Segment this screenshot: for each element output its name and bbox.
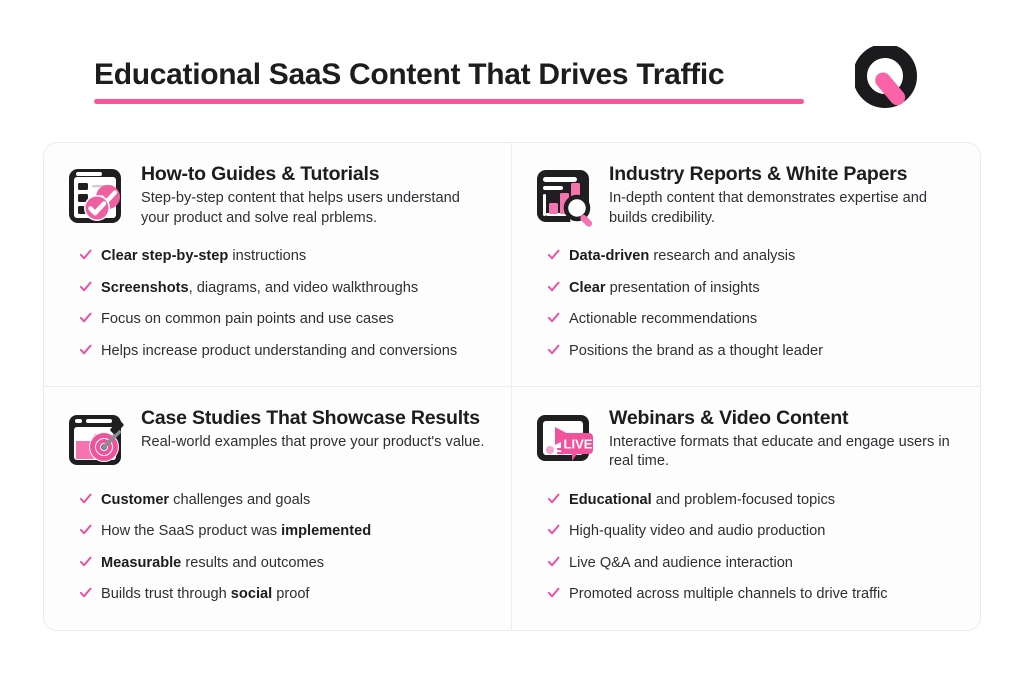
list-item: Helps increase product understanding and… <box>79 342 491 361</box>
infographic-root: Educational SaaS Content That Drives Tra… <box>0 0 1024 683</box>
check-icon <box>547 280 560 293</box>
bullet-text: Measurable results and outcomes <box>101 555 324 573</box>
bullet-text: Actionable recommendations <box>569 311 757 329</box>
check-icon <box>79 555 92 568</box>
list-item: Clear step-by-step instructions <box>79 247 491 266</box>
check-icon <box>547 311 560 324</box>
bullet-list: Educational and problem-focused topics H… <box>532 491 960 604</box>
bullet-list: Data-driven research and analysis Clear … <box>532 247 960 360</box>
header: Educational SaaS Content That Drives Tra… <box>0 0 1024 131</box>
card-header: LIVE Webinars & Video Content Interactiv… <box>532 405 960 473</box>
page-title: Educational SaaS Content That Drives Tra… <box>94 58 804 91</box>
list-item: Customer challenges and goals <box>79 491 491 510</box>
card-subtitle: In-depth content that demonstrates exper… <box>609 189 960 228</box>
check-icon <box>547 555 560 568</box>
card-subtitle: Real-world examples that prove your prod… <box>141 433 491 452</box>
card-subtitle: Interactive formats that educate and eng… <box>609 433 960 472</box>
bullet-list: Customer challenges and goals How the Sa… <box>64 491 491 604</box>
card-header: How-to Guides & Tutorials Step-by-step c… <box>64 161 491 229</box>
report-chart-magnifier-icon <box>532 163 598 229</box>
video-live-broadcast-icon: LIVE <box>532 407 598 473</box>
list-item: Actionable recommendations <box>547 310 960 329</box>
card-case-studies: Case Studies That Showcase Results Real-… <box>44 387 512 631</box>
bullet-text: Live Q&A and audience interaction <box>569 555 793 573</box>
bullet-text: Promoted across multiple channels to dri… <box>569 586 888 604</box>
check-icon <box>79 523 92 536</box>
card-title: Case Studies That Showcase Results <box>141 407 491 429</box>
bullet-text: Helps increase product understanding and… <box>101 343 457 361</box>
list-item: High-quality video and audio production <box>547 522 960 541</box>
q-logo-icon <box>855 46 921 112</box>
list-item: Positions the brand as a thought leader <box>547 342 960 361</box>
card-title: Industry Reports & White Papers <box>609 163 960 185</box>
card-how-to-guides: How-to Guides & Tutorials Step-by-step c… <box>44 143 512 387</box>
card-title: Webinars & Video Content <box>609 407 960 429</box>
check-icon <box>79 492 92 505</box>
list-item: Clear presentation of insights <box>547 279 960 298</box>
title-underline <box>94 99 804 104</box>
bullet-text: Data-driven research and analysis <box>569 248 795 266</box>
card-header: Case Studies That Showcase Results Real-… <box>64 405 491 473</box>
live-badge-label: LIVE <box>564 436 593 451</box>
bullet-text: Builds trust through social proof <box>101 586 310 604</box>
card-header-text: Case Studies That Showcase Results Real-… <box>141 405 491 453</box>
bullet-text: Focus on common pain points and use case… <box>101 311 394 329</box>
card-industry-reports: Industry Reports & White Papers In-depth… <box>512 143 980 387</box>
card-title: How-to Guides & Tutorials <box>141 163 491 185</box>
check-icon <box>547 523 560 536</box>
check-icon <box>79 280 92 293</box>
card-header-text: How-to Guides & Tutorials Step-by-step c… <box>141 161 491 228</box>
bullet-list: Clear step-by-step instructions Screensh… <box>64 247 491 360</box>
cards-panel: How-to Guides & Tutorials Step-by-step c… <box>43 142 981 631</box>
bullet-text: Clear presentation of insights <box>569 280 760 298</box>
card-header-text: Industry Reports & White Papers In-depth… <box>609 161 960 228</box>
list-item: Builds trust through social proof <box>79 585 491 604</box>
list-item: Promoted across multiple channels to dri… <box>547 585 960 604</box>
title-block: Educational SaaS Content That Drives Tra… <box>94 58 804 104</box>
bullet-text: Screenshots, diagrams, and video walkthr… <box>101 280 418 298</box>
check-icon <box>547 586 560 599</box>
check-icon <box>79 586 92 599</box>
checklist-document-icon <box>64 163 130 229</box>
card-webinars-video: LIVE Webinars & Video Content Interactiv… <box>512 387 980 631</box>
check-icon <box>547 248 560 261</box>
case-study-target-pen-icon <box>64 407 130 473</box>
list-item: Data-driven research and analysis <box>547 247 960 266</box>
card-header: Industry Reports & White Papers In-depth… <box>532 161 960 229</box>
bullet-text: Clear step-by-step instructions <box>101 248 306 266</box>
check-icon <box>79 311 92 324</box>
list-item: Screenshots, diagrams, and video walkthr… <box>79 279 491 298</box>
bullet-text: High-quality video and audio production <box>569 523 825 541</box>
check-icon <box>79 343 92 356</box>
bullet-text: Positions the brand as a thought leader <box>569 343 823 361</box>
card-header-text: Webinars & Video Content Interactive for… <box>609 405 960 472</box>
check-icon <box>547 492 560 505</box>
list-item: Focus on common pain points and use case… <box>79 310 491 329</box>
list-item: Live Q&A and audience interaction <box>547 554 960 573</box>
list-item: Educational and problem-focused topics <box>547 491 960 510</box>
list-item: How the SaaS product was implemented <box>79 522 491 541</box>
bullet-text: Educational and problem-focused topics <box>569 492 835 510</box>
card-subtitle: Step-by-step content that helps users un… <box>141 189 491 228</box>
check-icon <box>79 248 92 261</box>
bullet-text: Customer challenges and goals <box>101 492 310 510</box>
check-icon <box>547 343 560 356</box>
bullet-text: How the SaaS product was implemented <box>101 523 371 541</box>
list-item: Measurable results and outcomes <box>79 554 491 573</box>
